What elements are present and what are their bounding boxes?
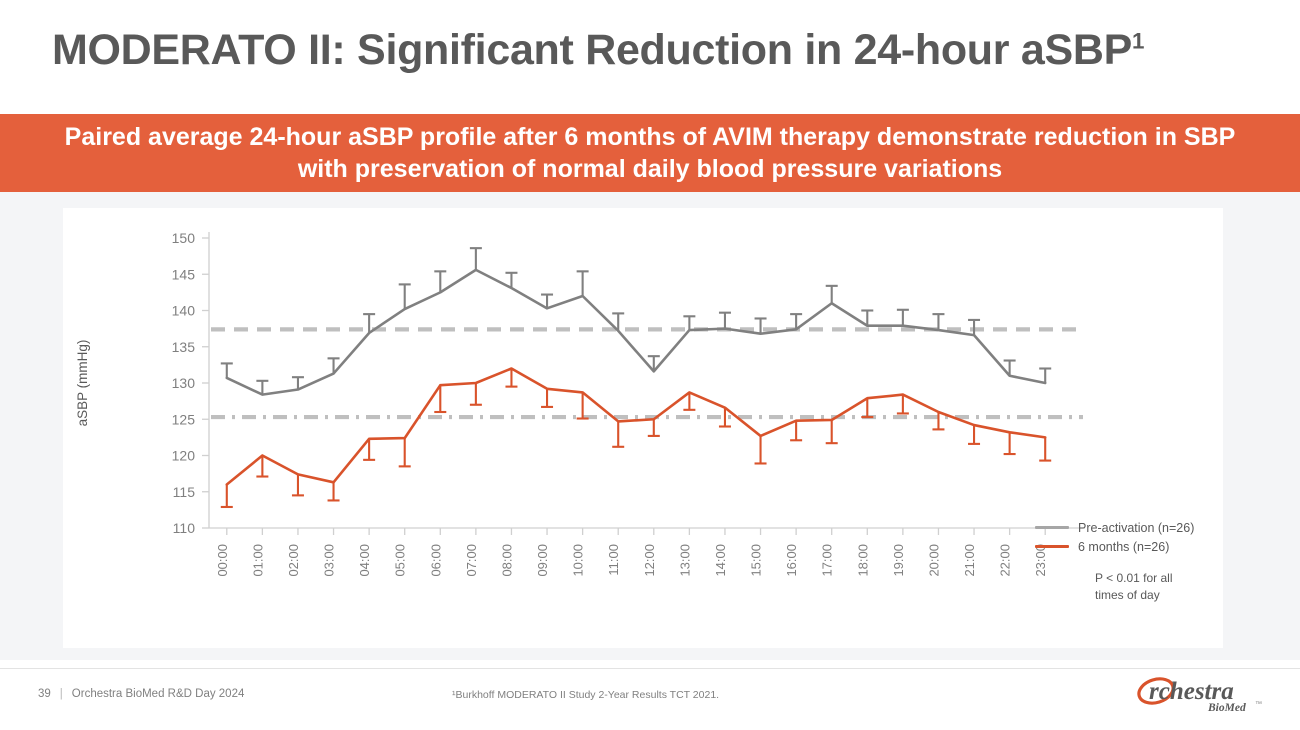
y-axis-tick-label: 140 (172, 303, 196, 319)
footnote-reference: ¹Burkhoff MODERATO II Study 2-Year Resul… (452, 689, 719, 701)
x-axis-tick-label: 19:00 (891, 544, 906, 577)
page-title: MODERATO II: Significant Reduction in 24… (52, 26, 1144, 75)
x-axis-tick-label: 22:00 (998, 544, 1013, 577)
x-axis-tick-label: 10:00 (571, 544, 586, 577)
x-axis-tick-label: 04:00 (357, 544, 372, 577)
slide: MODERATO II: Significant Reduction in 24… (0, 0, 1300, 730)
x-axis-tick-label: 12:00 (642, 544, 657, 577)
x-axis-tick-label: 13:00 (677, 544, 692, 577)
x-axis-tick-label: 05:00 (393, 544, 408, 577)
deck-name: Orchestra BioMed R&D Day 2024 (72, 688, 245, 700)
x-axis-tick-label: 20:00 (926, 544, 941, 577)
y-axis-tick-label: 120 (172, 448, 196, 464)
chart-legend: Pre-activation (n=26) 6 months (n=26) (1035, 518, 1194, 556)
x-axis-tick-label: 21:00 (962, 544, 977, 577)
y-axis-tick-label: 125 (172, 411, 196, 427)
x-axis-tick-label: 16:00 (784, 544, 799, 577)
legend-label-pre-activation: Pre-activation (n=26) (1078, 521, 1194, 535)
x-axis-tick-label: 02:00 (286, 544, 301, 577)
series-line-6-months (227, 369, 1045, 485)
legend-item-6-months: 6 months (n=26) (1035, 537, 1194, 556)
x-axis-tick-label: 17:00 (820, 544, 835, 577)
key-message-banner: Paired average 24-hour aSBP profile afte… (0, 114, 1300, 192)
x-axis-tick-label: 00:00 (215, 544, 230, 577)
page-title-footnote-marker: 1 (1132, 29, 1144, 54)
x-axis-tick-label: 06:00 (428, 544, 443, 577)
significance-note-line1: P < 0.01 for all (1095, 570, 1215, 587)
y-axis-tick-label: 110 (173, 520, 196, 536)
legend-label-6-months: 6 months (n=26) (1078, 540, 1169, 554)
footer-separator: | (60, 688, 63, 700)
x-axis-tick-label: 18:00 (855, 544, 870, 577)
legend-item-pre-activation: Pre-activation (n=26) (1035, 518, 1194, 537)
x-axis-tick-label: 09:00 (535, 544, 550, 577)
key-message-text: Paired average 24-hour aSBP profile afte… (40, 121, 1260, 185)
y-axis-tick-label: 130 (172, 375, 196, 391)
y-axis-tick-label: 135 (172, 339, 196, 355)
legend-swatch-pre-activation (1035, 526, 1069, 530)
y-axis-tick-label: 150 (172, 230, 196, 246)
logo-trademark: ™ (1255, 701, 1262, 708)
logo-wordmark: rchestra (1149, 678, 1234, 705)
footer-divider (0, 668, 1300, 669)
y-axis-tick-label: 115 (173, 484, 196, 500)
asbp-line-chart: 110115120125130135140145150aSBP (mmHg)00… (63, 208, 1223, 648)
x-axis-tick-label: 15:00 (749, 544, 764, 577)
x-axis-tick-label: 14:00 (713, 544, 728, 577)
chart-area: 110115120125130135140145150aSBP (mmHg)00… (0, 192, 1300, 660)
footer-left: 39 | Orchestra BioMed R&D Day 2024 (38, 688, 244, 700)
page-number: 39 (38, 688, 51, 700)
significance-note: P < 0.01 for all times of day (1095, 570, 1215, 605)
series-line-pre-activation (227, 270, 1045, 395)
x-axis-tick-label: 03:00 (322, 544, 337, 577)
y-axis-title: aSBP (mmHg) (75, 340, 90, 427)
page-title-text: MODERATO II: Significant Reduction in 24… (52, 26, 1132, 74)
chart-card: 110115120125130135140145150aSBP (mmHg)00… (63, 208, 1223, 648)
x-axis-tick-label: 07:00 (464, 544, 479, 577)
x-axis-tick-label: 08:00 (499, 544, 514, 577)
logo-svg: rchestra BioMed ™ (1136, 672, 1264, 716)
y-axis-tick-label: 145 (172, 266, 196, 282)
significance-note-line2: times of day (1095, 587, 1215, 604)
logo-subwordmark: BioMed (1207, 702, 1246, 714)
orchestra-biomed-logo: rchestra BioMed ™ (1136, 672, 1264, 716)
x-axis-tick-label: 01:00 (250, 544, 265, 577)
x-axis-tick-label: 11:00 (606, 544, 621, 576)
legend-swatch-6-months (1035, 545, 1069, 549)
